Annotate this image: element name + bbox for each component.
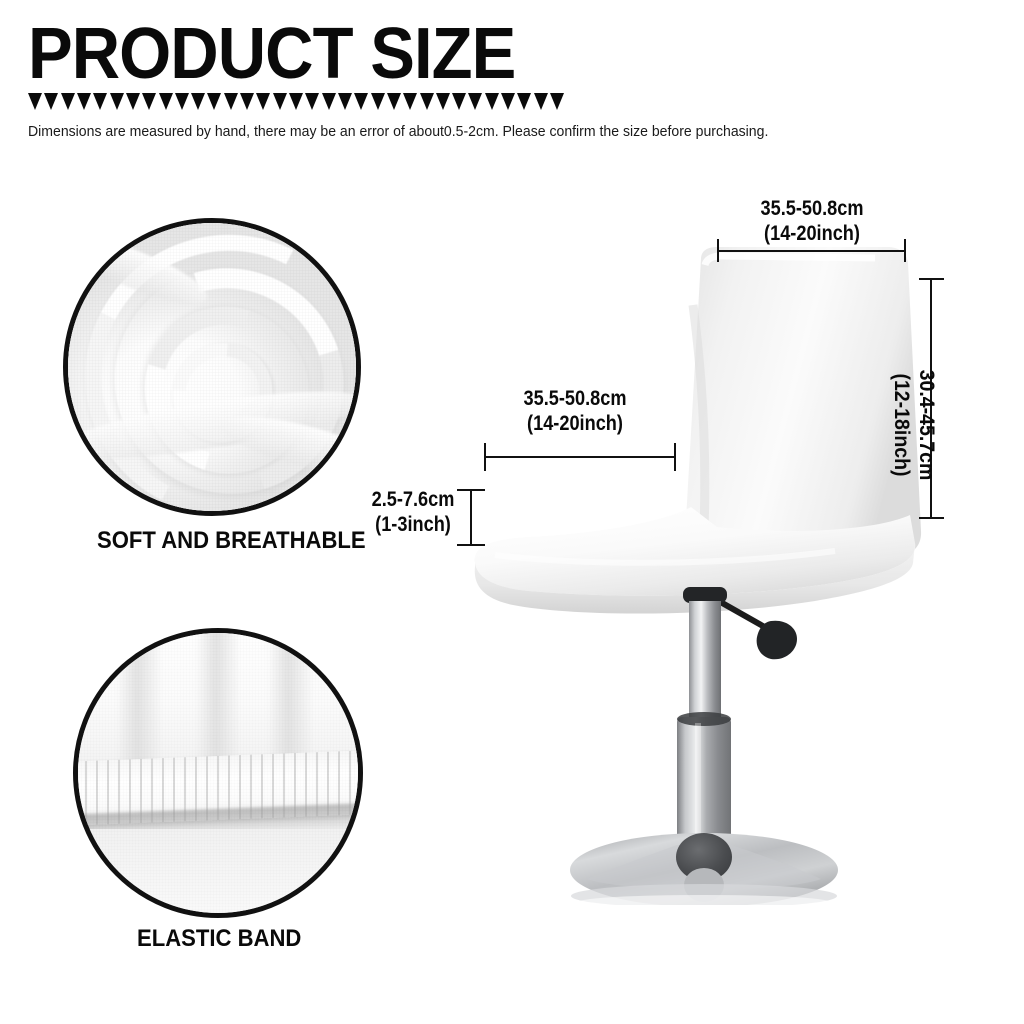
triangle-marker-icon xyxy=(159,93,173,110)
triangle-marker-icon xyxy=(452,93,466,110)
elastic-hem-icon xyxy=(78,633,358,913)
dimension-line-skirt-height xyxy=(470,489,472,546)
chair-illustration xyxy=(455,245,925,905)
dimension-tick-top xyxy=(457,489,485,491)
triangle-marker-icon xyxy=(420,93,434,110)
dimension-cm-backrest-width: 35.5-50.8cm xyxy=(715,196,909,221)
triangle-marker-icon xyxy=(93,93,107,110)
triangle-marker-icon xyxy=(77,93,91,110)
triangle-marker-icon xyxy=(110,93,124,110)
dimension-label-skirt-height: 2.5-7.6cm (1-3inch) xyxy=(364,487,463,537)
dimension-label-backrest-height: 30.4-45.7cm (12-18inch) xyxy=(889,330,939,520)
triangle-marker-icon xyxy=(61,93,75,110)
dimension-inch-skirt-height: (1-3inch) xyxy=(367,512,459,537)
dimension-tick-left xyxy=(717,239,719,262)
dimension-line-backrest-width xyxy=(717,250,906,252)
dimension-line-seat-depth xyxy=(484,456,676,458)
triangle-marker-icon xyxy=(175,93,189,110)
triangle-marker-icon xyxy=(273,93,287,110)
feature-image-elastic-band xyxy=(73,628,363,918)
triangle-marker-icon xyxy=(322,93,336,110)
chair-backrest xyxy=(685,247,921,561)
triangle-marker-icon xyxy=(207,93,221,110)
triangle-marker-icon xyxy=(354,93,368,110)
dimension-tick-bottom xyxy=(457,544,485,546)
triangle-marker-icon xyxy=(289,93,303,110)
dimension-inch-seat-depth: (14-20inch) xyxy=(478,411,672,436)
triangle-marker-icon xyxy=(28,93,42,110)
triangle-marker-icon xyxy=(338,93,352,110)
triangle-marker-icon xyxy=(191,93,205,110)
triangle-marker-icon xyxy=(126,93,140,110)
gas-lift-rod xyxy=(689,601,721,723)
triangle-marker-icon xyxy=(44,93,58,110)
dimension-cm-skirt-height: 2.5-7.6cm xyxy=(367,487,459,512)
dimension-label-seat-depth: 35.5-50.8cm (14-20inch) xyxy=(471,386,679,436)
triangle-marker-icon xyxy=(387,93,401,110)
dimension-inch-backrest-width: (14-20inch) xyxy=(715,221,909,246)
product-size-infographic: PRODUCT SIZE Dimensions are measured by … xyxy=(0,0,1024,1024)
page-title: PRODUCT SIZE xyxy=(28,18,515,90)
measurement-disclaimer: Dimensions are measured by hand, there m… xyxy=(28,124,768,140)
dimension-tick-left xyxy=(484,443,486,471)
triangle-marker-icon xyxy=(436,93,450,110)
dimension-tick-right xyxy=(904,239,906,262)
triangle-marker-icon xyxy=(305,93,319,110)
triangle-marker-icon xyxy=(142,93,156,110)
lever-paddle xyxy=(757,621,797,660)
triangle-marker-icon xyxy=(403,93,417,110)
triangle-marker-icon xyxy=(256,93,270,110)
feature-caption-soft-and-breathable: SOFT AND BREATHABLE xyxy=(97,527,366,555)
feature-image-soft-and-breathable xyxy=(63,218,361,516)
dimension-cm-backrest-height: 30.4-45.7cm xyxy=(914,337,939,514)
triangle-marker-icon xyxy=(371,93,385,110)
triangle-marker-icon xyxy=(517,93,531,110)
triangle-marker-icon xyxy=(468,93,482,110)
dimension-cm-seat-depth: 35.5-50.8cm xyxy=(478,386,672,411)
triangle-marker-icon xyxy=(240,93,254,110)
feature-caption-elastic-band: ELASTIC BAND xyxy=(137,925,301,953)
triangle-marker-icon xyxy=(501,93,515,110)
dimension-tick-right xyxy=(674,443,676,471)
triangle-marker-icon xyxy=(485,93,499,110)
dimension-inch-backrest-height: (12-18inch) xyxy=(889,337,914,514)
gas-lift-collar xyxy=(683,587,727,603)
triangle-marker-icon xyxy=(550,93,564,110)
dimension-label-backrest-width: 35.5-50.8cm (14-20inch) xyxy=(708,196,916,246)
dimension-tick-top xyxy=(919,278,944,280)
triangle-marker-icon xyxy=(534,93,548,110)
fabric-swirl-icon xyxy=(68,223,356,511)
triangle-marker-icon xyxy=(224,93,238,110)
triangle-divider xyxy=(28,93,564,111)
